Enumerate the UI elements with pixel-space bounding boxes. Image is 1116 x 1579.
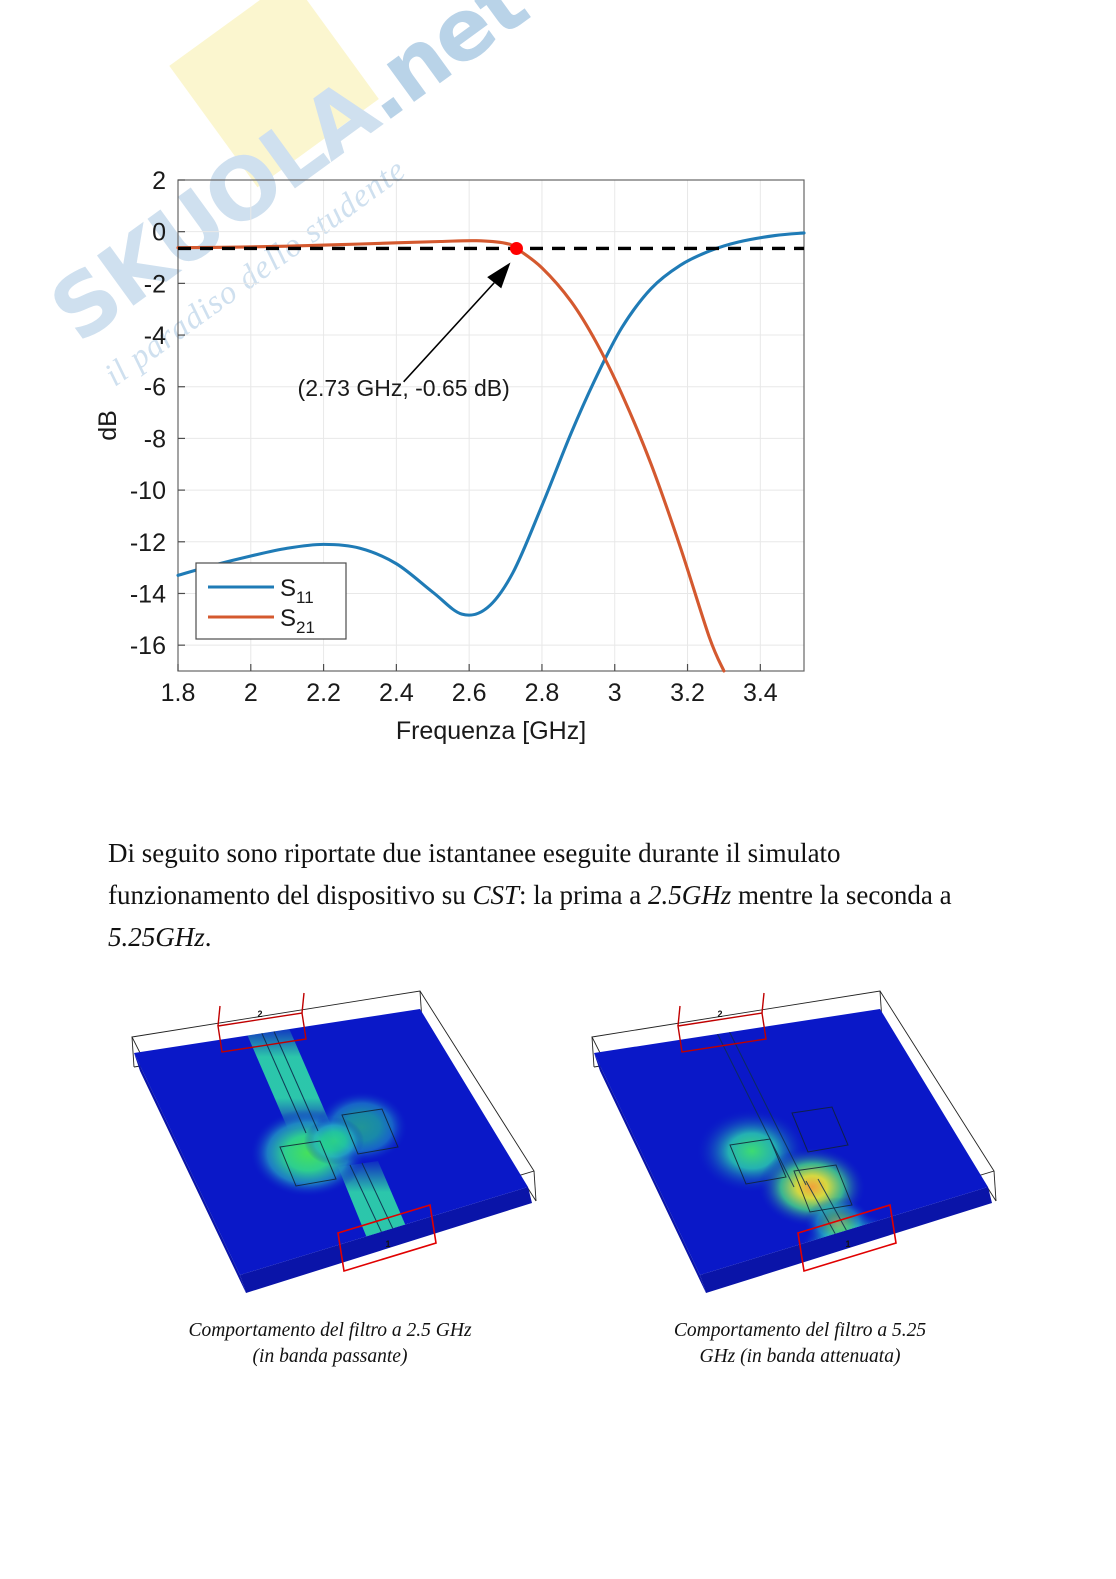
paragraph-emphasis-freq1: 2.5GHz: [648, 880, 731, 910]
watermark-brand-suffix: .net: [338, 0, 544, 141]
paragraph-emphasis-freq2: 5.25GHz: [108, 922, 205, 952]
port-label-1-left: 1: [385, 1239, 390, 1249]
body-paragraph: Di seguito sono riportate due istantanee…: [108, 832, 988, 958]
chart-legend: S11 S21: [196, 563, 346, 639]
series-line-s11: [178, 233, 804, 615]
y-axis-label: dB: [98, 410, 122, 441]
marker-point: [510, 242, 523, 255]
svg-text:2: 2: [244, 679, 258, 707]
annotation-label: (2.73 GHz, -0.65 dB): [298, 375, 510, 401]
svg-text:-16: -16: [130, 632, 166, 660]
cst-render-right: 2 1: [580, 975, 1000, 1315]
port-label-2-right: 2: [717, 1009, 722, 1019]
paragraph-text-3: mentre la seconda a: [731, 880, 951, 910]
cst-figure-stopband: 2 1: [580, 975, 1000, 1315]
svg-text:-10: -10: [130, 477, 166, 505]
caption-line-1: Comportamento del filtro a 5.25: [674, 1320, 926, 1341]
caption-line-2: (in banda passante): [253, 1346, 408, 1367]
paragraph-text-2: : la prima a: [519, 880, 648, 910]
port-label-2-left: 2: [257, 1009, 262, 1019]
svg-text:-6: -6: [144, 374, 166, 402]
figure-caption-passband: Comportamento del filtro a 2.5 GHz (in b…: [130, 1318, 530, 1370]
figure-caption-stopband: Comportamento del filtro a 5.25 GHz (in …: [600, 1318, 1000, 1370]
svg-text:1.8: 1.8: [161, 679, 196, 707]
cst-figure-row: 2 1: [0, 975, 1116, 1315]
svg-text:-8: -8: [144, 425, 166, 453]
svg-text:-4: -4: [144, 322, 166, 350]
svg-text:2.6: 2.6: [452, 679, 487, 707]
field-hotspot-center-left: [304, 1117, 364, 1165]
port-label-1-right: 1: [845, 1239, 850, 1249]
legend-background: [196, 563, 346, 639]
annotation-arrow: [404, 283, 495, 382]
paragraph-emphasis-cst: CST: [472, 880, 519, 910]
svg-text:2.4: 2.4: [379, 679, 414, 707]
cst-render-left: 2 1: [120, 975, 540, 1315]
y-axis-tick-labels: 20-2-4-6-8-10-12-14-16: [130, 167, 166, 660]
paragraph-text-4: .: [205, 922, 212, 952]
svg-text:2.2: 2.2: [306, 679, 341, 707]
svg-text:-12: -12: [130, 529, 166, 557]
s-parameter-chart: 1.822.22.42.62.833.23.4 20-2-4-6-8-10-12…: [0, 150, 1116, 760]
caption-line-1: Comportamento del filtro a 2.5 GHz: [188, 1320, 471, 1341]
svg-text:2.8: 2.8: [525, 679, 560, 707]
annotation-arrow-head: [487, 262, 510, 288]
svg-text:-2: -2: [144, 270, 166, 298]
x-axis-ticks: [178, 664, 760, 671]
svg-text:2: 2: [152, 167, 166, 195]
svg-text:3: 3: [608, 679, 622, 707]
svg-text:3.4: 3.4: [743, 679, 778, 707]
x-axis-label: Frequenza [GHz]: [396, 717, 586, 745]
caption-line-2: GHz (in banda attenuata): [700, 1346, 901, 1367]
chart-canvas: 1.822.22.42.62.833.23.4 20-2-4-6-8-10-12…: [98, 150, 1018, 750]
svg-text:3.2: 3.2: [670, 679, 705, 707]
svg-text:0: 0: [152, 219, 166, 247]
x-axis-tick-labels: 1.822.22.42.62.833.23.4: [161, 679, 778, 707]
svg-text:-14: -14: [130, 580, 166, 608]
cst-figure-passband: 2 1: [120, 975, 540, 1315]
